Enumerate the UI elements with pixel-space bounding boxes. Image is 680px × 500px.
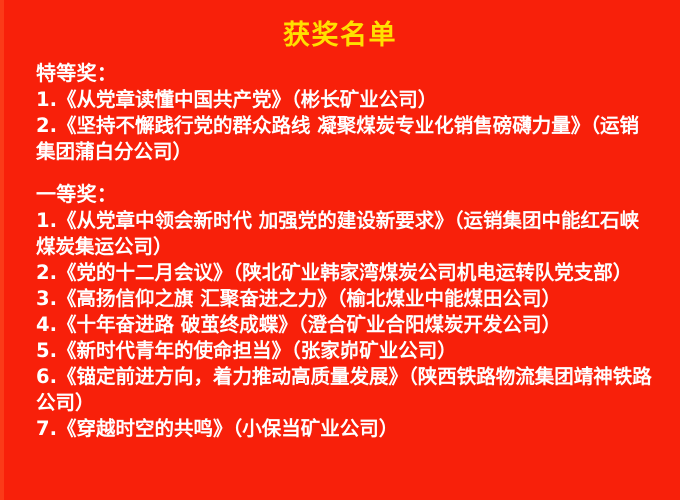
award-entry-index: 2. [36,261,57,284]
award-section-heading: 一等奖： [36,181,654,208]
award-entry-text: 《从党章中领会新时代 加强党的建设新要求》（运销集团中能红石峡煤炭集运公司） [36,209,639,258]
award-entry-index: 6. [36,365,57,388]
award-entry-list: 1.《从党章中领会新时代 加强党的建设新要求》（运销集团中能红石峡煤炭集运公司）… [36,208,654,442]
award-list-poster: 获奖名单 特等奖：1.《从党章读懂中国共产党》（彬长矿业公司）2.《坚持不懈践行… [0,0,680,500]
award-entry: 1.《从党章读懂中国共产党》（彬长矿业公司） [36,87,654,113]
award-entry-list: 1.《从党章读懂中国共产党》（彬长矿业公司）2.《坚持不懈践行党的群众路线 凝聚… [36,87,654,165]
award-entry-text: 《锚定前进方向，着力推动高质量发展》（陕西铁路物流集团靖神铁路公司） [36,365,652,414]
award-section: 特等奖：1.《从党章读懂中国共产党》（彬长矿业公司）2.《坚持不懈践行党的群众路… [36,60,654,165]
award-entry: 2.《党的十二月会议》（陕北矿业韩家湾煤炭公司机电运转队党支部） [36,260,654,286]
award-entry-text: 《十年奋进路 破茧终成蝶》（澄合矿业合阳煤炭开发公司） [57,313,561,336]
page-title: 获奖名单 [0,19,680,53]
award-entry: 6.《锚定前进方向，着力推动高质量发展》（陕西铁路物流集团靖神铁路公司） [36,364,654,416]
award-entry: 7.《穿越时空的共鸣》（小保当矿业公司） [36,416,654,442]
award-entry-index: 3. [36,287,57,310]
award-section-heading: 特等奖： [36,60,654,87]
award-entry-index: 4. [36,313,57,336]
award-entry-index: 7. [36,417,57,440]
award-section: 一等奖：1.《从党章中领会新时代 加强党的建设新要求》（运销集团中能红石峡煤炭集… [36,181,654,442]
left-edge-strip [0,0,4,500]
award-entry-text: 《高扬信仰之旗 汇聚奋进之力》（榆北煤业中能煤田公司） [57,287,561,310]
award-entry-index: 1. [36,209,57,232]
award-entry-index: 1. [36,88,57,111]
award-entry-index: 5. [36,339,57,362]
award-entry-index: 2. [36,114,57,137]
award-entry: 2.《坚持不懈践行党的群众路线 凝聚煤炭专业化销售磅礴力量》（运销集团蒲白分公司… [36,113,654,165]
award-entry-text: 《穿越时空的共鸣》（小保当矿业公司） [57,417,398,440]
award-entry-text: 《党的十二月会议》（陕北矿业韩家湾煤炭公司机电运转队党支部） [57,261,632,284]
award-entry: 4.《十年奋进路 破茧终成蝶》（澄合矿业合阳煤炭开发公司） [36,312,654,338]
award-entry: 5.《新时代青年的使命担当》（张家峁矿业公司） [36,338,654,364]
award-sections-container: 特等奖：1.《从党章读懂中国共产党》（彬长矿业公司）2.《坚持不懈践行党的群众路… [36,60,654,442]
award-entry: 1.《从党章中领会新时代 加强党的建设新要求》（运销集团中能红石峡煤炭集运公司） [36,208,654,260]
award-entry-text: 《从党章读懂中国共产党》（彬长矿业公司） [57,88,437,111]
award-entry-text: 《新时代青年的使命担当》（张家峁矿业公司） [57,339,457,362]
award-entry-text: 《坚持不懈践行党的群众路线 凝聚煤炭专业化销售磅礴力量》（运销集团蒲白分公司） [36,114,639,163]
award-entry: 3.《高扬信仰之旗 汇聚奋进之力》（榆北煤业中能煤田公司） [36,286,654,312]
